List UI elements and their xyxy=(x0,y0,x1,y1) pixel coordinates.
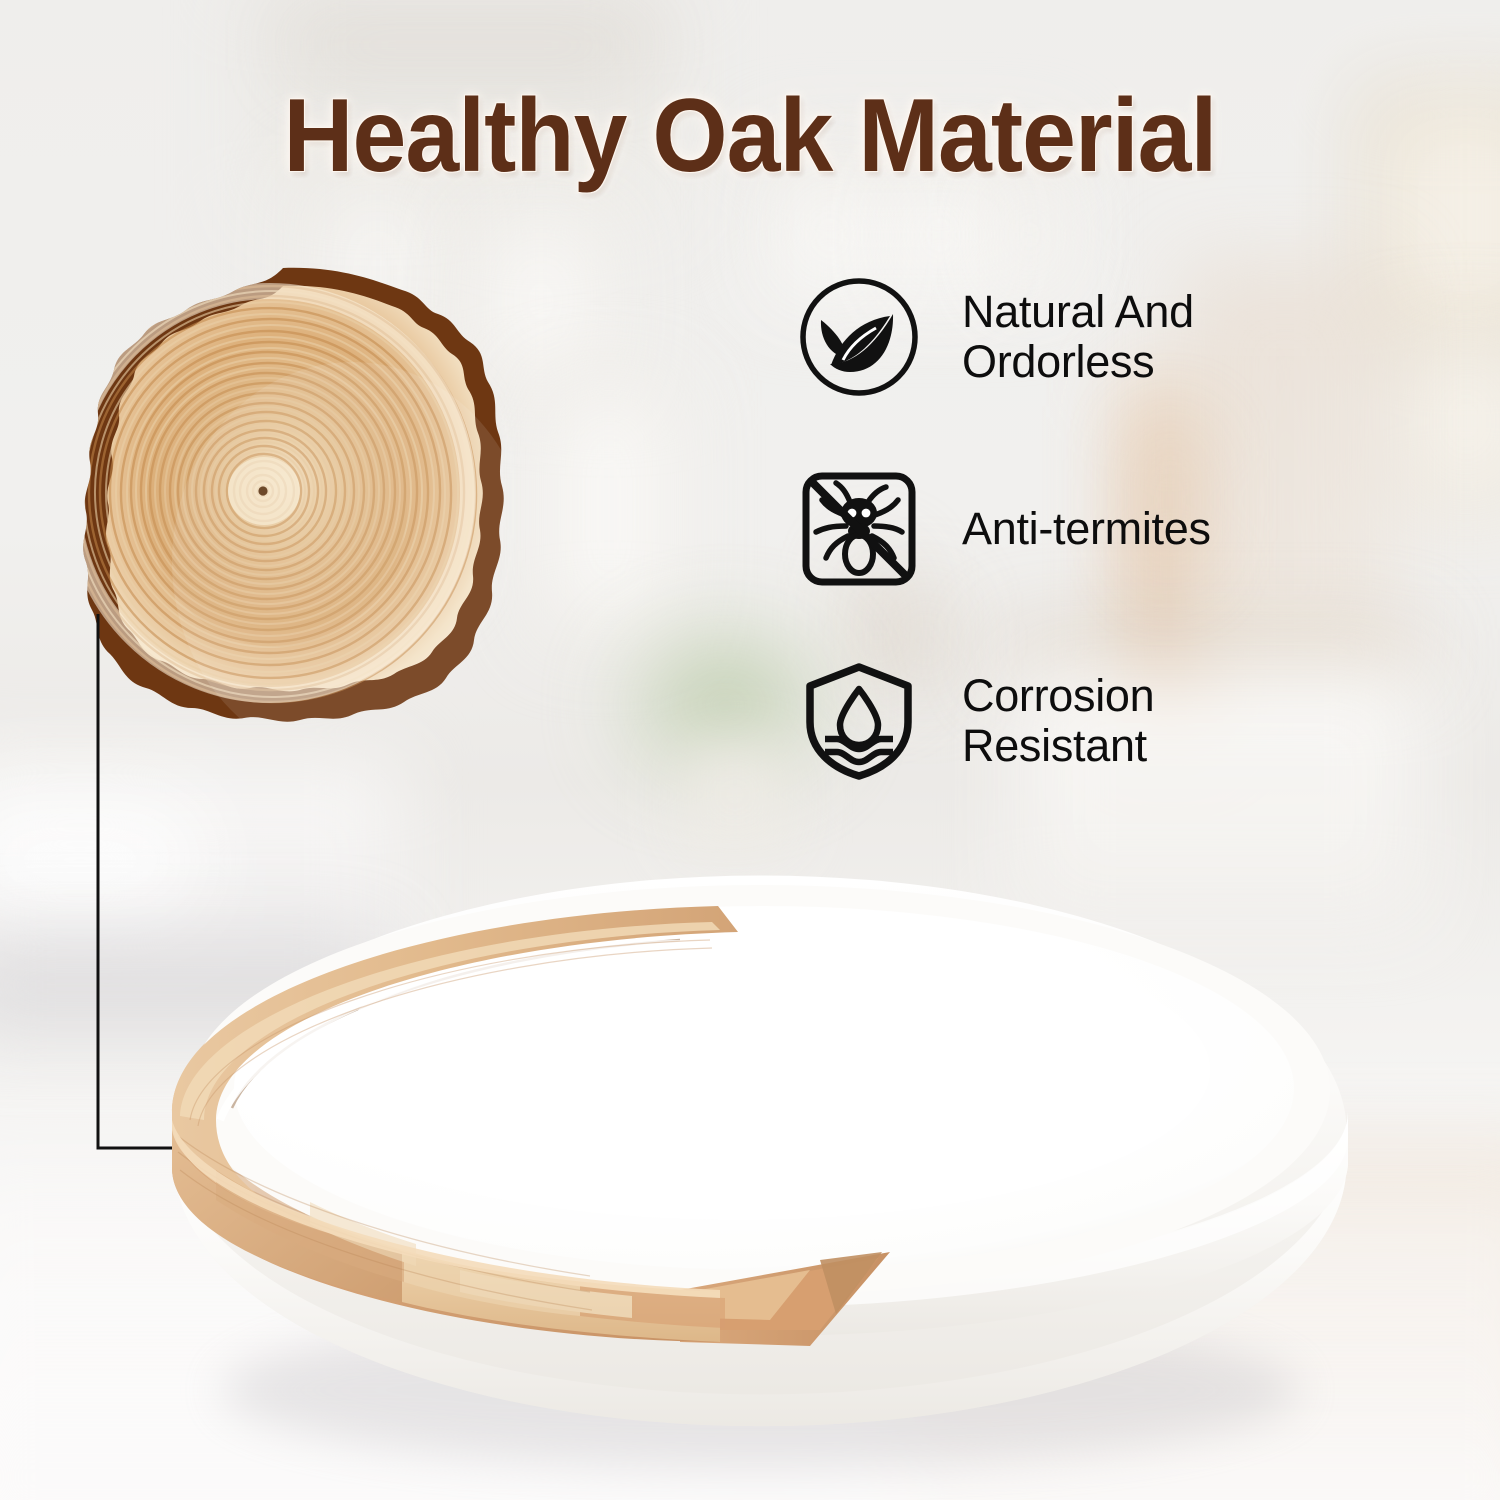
feature-label: Anti-termites xyxy=(962,504,1211,554)
round-flush-mount-ceiling-light xyxy=(120,790,1400,1500)
page-title: Healthy Oak Material xyxy=(53,82,1448,191)
leaf-in-circle-icon xyxy=(798,276,920,398)
feature-item-anti-termites: Anti-termites xyxy=(798,464,1268,594)
oak-growth-rings-cross-section xyxy=(52,262,514,740)
background-frame-tall xyxy=(540,380,678,638)
feature-label: Corrosion Resistant xyxy=(962,671,1154,772)
background-shelf-shadow xyxy=(300,30,640,60)
feature-list: Natural And Ordorless xyxy=(798,272,1268,786)
background-frame-right-small xyxy=(1390,330,1500,512)
feature-label: Natural And Ordorless xyxy=(962,287,1194,388)
no-ant-icon xyxy=(798,468,920,590)
shield-water-drop-icon xyxy=(798,660,920,782)
feature-item-corrosion-resistant: Corrosion Resistant xyxy=(798,656,1268,786)
product-feature-infographic: Healthy Oak Material xyxy=(0,0,1500,1500)
feature-item-natural-and-ordorless: Natural And Ordorless xyxy=(798,272,1268,402)
